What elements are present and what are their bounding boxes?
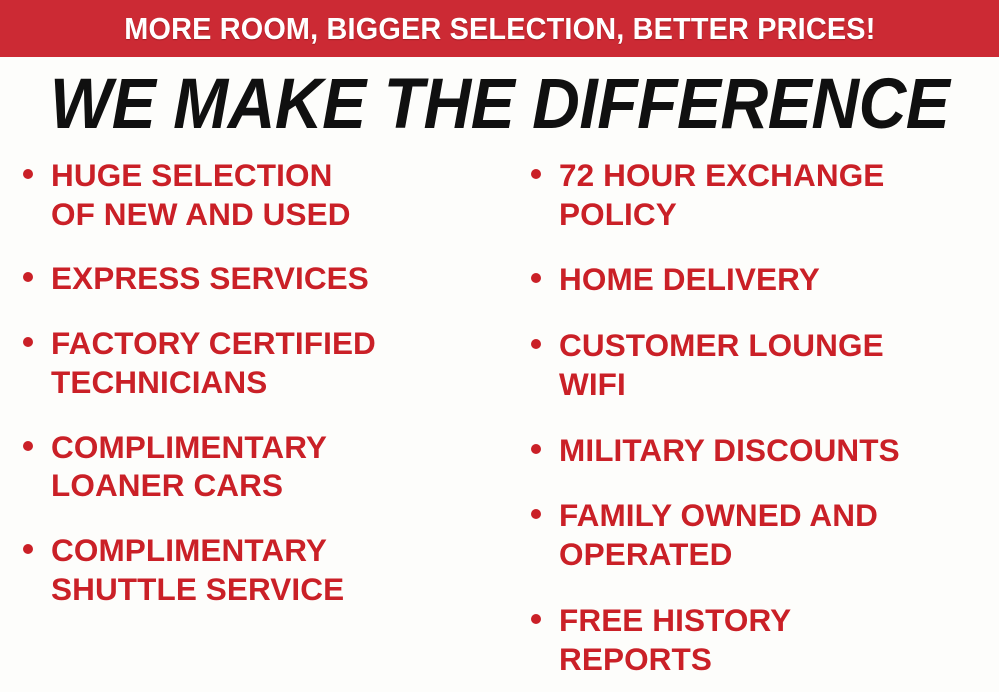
- benefits-column-right: 72 HOUR EXCHANGE POLICY HOME DELIVERY CU…: [505, 156, 999, 692]
- list-item: MILITARY DISCOUNTS: [522, 431, 999, 470]
- benefit-label: HOME DELIVERY: [559, 260, 999, 299]
- benefit-label: CUSTOMER LOUNGE WIFI: [559, 326, 999, 403]
- list-item: EXPRESS SERVICES: [14, 259, 505, 298]
- top-promo-banner-text: MORE ROOM, BIGGER SELECTION, BETTER PRIC…: [124, 13, 875, 44]
- benefit-label: COMPLIMENTARY LOANER CARS: [51, 428, 505, 505]
- benefit-list-right: 72 HOUR EXCHANGE POLICY HOME DELIVERY CU…: [522, 156, 999, 678]
- list-item: FREE HISTORY REPORTS: [522, 601, 999, 678]
- benefit-list-left: HUGE SELECTION OF NEW AND USED EXPRESS S…: [14, 156, 505, 609]
- benefits-columns: HUGE SELECTION OF NEW AND USED EXPRESS S…: [0, 156, 999, 692]
- benefit-label: 72 HOUR EXCHANGE POLICY: [559, 156, 999, 233]
- top-promo-banner: MORE ROOM, BIGGER SELECTION, BETTER PRIC…: [0, 0, 999, 57]
- list-item: HOME DELIVERY: [522, 260, 999, 299]
- benefits-column-left: HUGE SELECTION OF NEW AND USED EXPRESS S…: [0, 156, 505, 635]
- list-item: 72 HOUR EXCHANGE POLICY: [522, 156, 999, 233]
- benefit-label: MILITARY DISCOUNTS: [559, 431, 999, 470]
- dealership-advertisement: MORE ROOM, BIGGER SELECTION, BETTER PRIC…: [0, 0, 999, 692]
- list-item: FACTORY CERTIFIED TECHNICIANS: [14, 324, 505, 401]
- benefit-label: EXPRESS SERVICES: [51, 259, 505, 298]
- list-item: FAMILY OWNED AND OPERATED: [522, 496, 999, 573]
- list-item: COMPLIMENTARY LOANER CARS: [14, 428, 505, 505]
- list-item: HUGE SELECTION OF NEW AND USED: [14, 156, 505, 233]
- benefit-label: COMPLIMENTARY SHUTTLE SERVICE: [51, 531, 505, 608]
- list-item: COMPLIMENTARY SHUTTLE SERVICE: [14, 531, 505, 608]
- benefit-label: HUGE SELECTION OF NEW AND USED: [51, 156, 505, 233]
- page-title: WE MAKE THE DIFFERENCE: [50, 69, 950, 140]
- benefit-label: FACTORY CERTIFIED TECHNICIANS: [51, 324, 505, 401]
- benefit-label: FAMILY OWNED AND OPERATED: [559, 496, 999, 573]
- headline-container: WE MAKE THE DIFFERENCE: [0, 59, 999, 149]
- list-item: CUSTOMER LOUNGE WIFI: [522, 326, 999, 403]
- benefit-label: FREE HISTORY REPORTS: [559, 601, 999, 678]
